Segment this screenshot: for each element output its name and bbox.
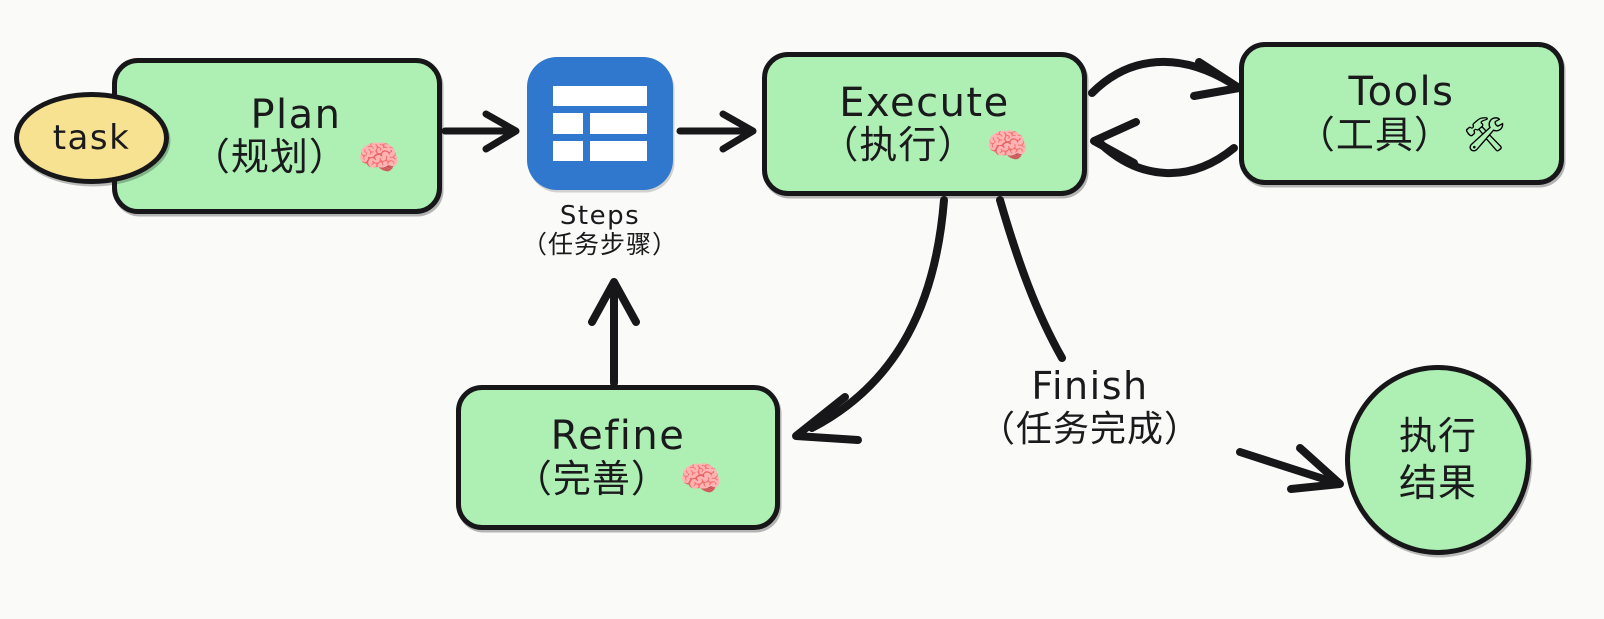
node-tools-row-en: Tools [1348,71,1454,114]
steps-icon-cell-4 [590,141,647,162]
node-execute-inner: Execute （执行） 🧠 [820,82,1028,166]
node-steps-label-en: Steps [495,202,705,231]
node-tools-label-en: Tools [1348,71,1454,114]
node-steps-label-zh: （任务步骤） [495,231,705,259]
edge-refine-to-steps [592,282,636,383]
edge-label-finish-en: Finish [955,365,1225,409]
node-execute-label-en: Execute [839,82,1009,125]
node-execute-row-en: Execute [839,82,1009,125]
node-plan-label-en: Plan [250,94,341,137]
edge-execute-to-tools [1092,62,1239,96]
node-refine-row-en: Refine [551,415,686,458]
hammer-and-wrench-emoji: 🛠 [1463,118,1506,152]
edge-execute-to-finish [1000,200,1062,358]
node-steps-icon[interactable] [527,57,673,190]
brain-emoji: 🧠 [358,141,400,175]
node-task-label: task [53,118,131,158]
edge-label-finish-zh: （任务完成） [955,409,1225,450]
edge-plan-to-steps [445,114,516,149]
node-result-label-line2: 结果 [1399,460,1477,508]
node-execute-label-zh: （执行） [820,125,976,166]
node-refine-row-zh: （完善） 🧠 [514,459,722,500]
edge-tools-to-execute [1094,122,1234,173]
node-plan-row-zh: （规划） 🧠 [192,137,400,178]
node-tools[interactable]: Tools （工具） 🛠 [1239,42,1564,185]
node-task[interactable]: task [14,92,169,184]
steps-icon-cell-1 [553,113,583,134]
node-refine[interactable]: Refine （完善） 🧠 [456,385,780,530]
node-refine-label-zh: （完善） [514,459,670,500]
steps-icon-cell-2 [590,113,647,134]
edge-steps-to-execute [680,114,753,149]
node-plan-inner: Plan （规划） 🧠 [154,94,400,178]
node-result[interactable]: 执行 结果 [1345,365,1531,555]
node-execute[interactable]: Execute （执行） 🧠 [762,52,1087,196]
node-execute-row-zh: （执行） 🧠 [820,125,1028,166]
edge-label-finish: Finish （任务完成） [955,365,1225,450]
node-steps-caption: Steps （任务步骤） [495,202,705,259]
edge-finish-to-result [1240,448,1340,489]
node-plan-row-en: Plan [250,94,341,137]
node-refine-label-en: Refine [551,415,686,458]
edge-execute-to-refine [796,200,944,440]
node-result-label-line1: 执行 [1399,413,1477,461]
brain-emoji: 🧠 [680,462,722,496]
node-tools-inner: Tools （工具） 🛠 [1297,71,1506,155]
node-refine-inner: Refine （完善） 🧠 [514,415,722,499]
brain-emoji: 🧠 [986,129,1028,163]
steps-table-icon [553,86,647,162]
node-plan-label-zh: （规划） [192,137,348,178]
steps-icon-bar-top [553,86,647,107]
node-tools-label-zh: （工具） [1297,115,1453,156]
diagram-canvas: .stroke { fill:none; stroke:#17171a; str… [0,0,1604,619]
steps-icon-cell-3 [553,141,583,162]
node-tools-row-zh: （工具） 🛠 [1297,115,1506,156]
